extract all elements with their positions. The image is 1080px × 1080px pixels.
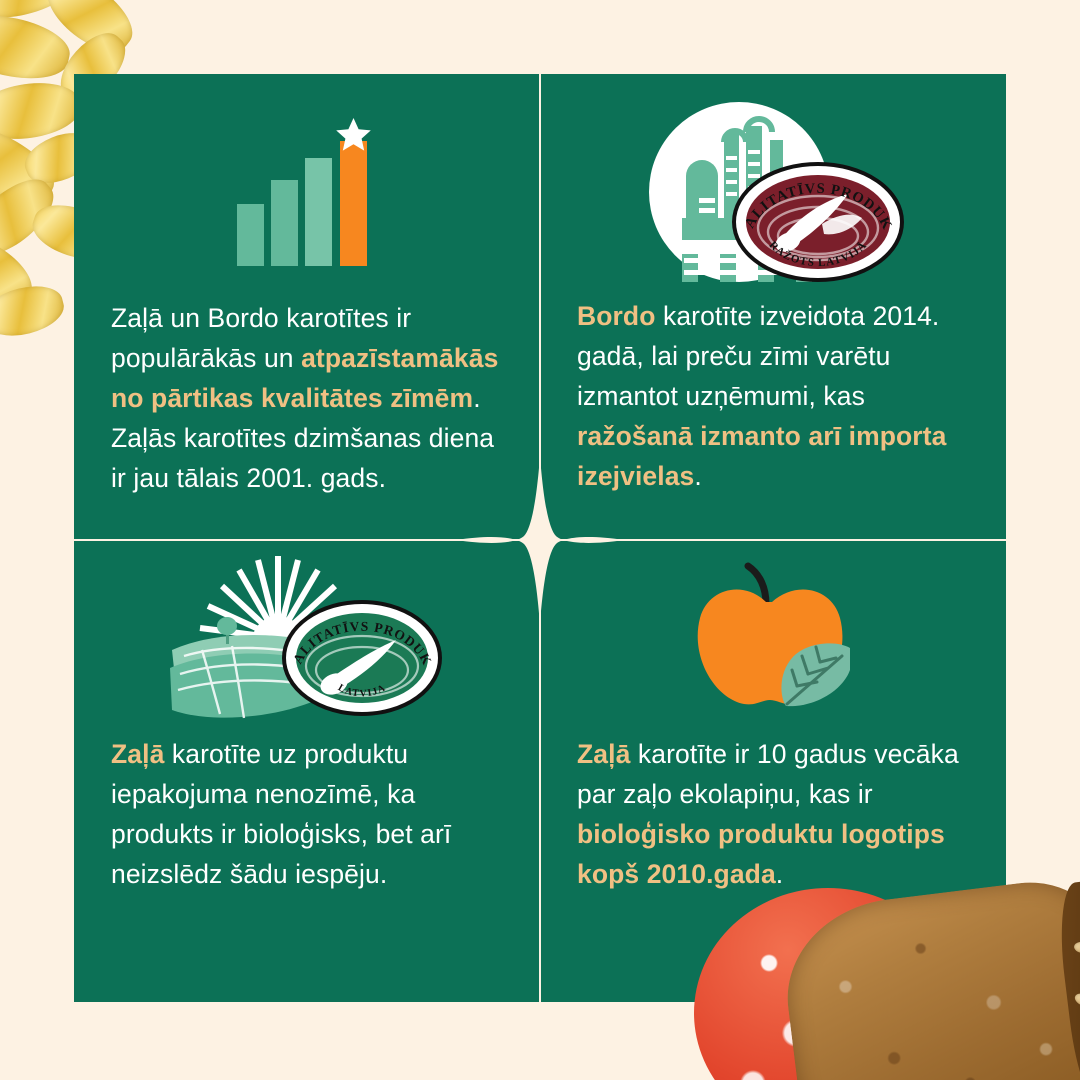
card-text: Zaļā karotīte ir 10 gadus vecāka par zaļ… <box>577 734 977 894</box>
card-text: Zaļā un Bordo karotītes ir populārākās u… <box>111 298 511 498</box>
card-popularity: Zaļā un Bordo karotītes ir populārākās u… <box>74 74 540 538</box>
card-not-organic: KVALITATĪVS PRODUKTS LATVIJA Zaļā karotī… <box>74 538 540 1002</box>
apple-with-leaf-icon <box>686 552 866 722</box>
card-text: Bordo karotīte izveidota 2014. gadā, lai… <box>577 296 977 496</box>
factory-with-bordo-seal-icon: KVALITATĪVS PRODUKTS RAŽOTS LATVIJĀ <box>646 100 906 285</box>
card-age-vs-ecoleaf: Zaļā karotīte ir 10 gadus vecāka par zaļ… <box>540 538 1006 1002</box>
content-panel: Zaļā un Bordo karotītes ir populārākās u… <box>74 74 1006 1002</box>
bread-crust <box>1053 878 1080 1080</box>
card-text: Zaļā karotīte uz produktu iepakojuma nen… <box>111 734 511 894</box>
bar-chart-with-star-icon <box>234 118 384 268</box>
infographic-canvas: Zaļā un Bordo karotītes ir populārākās u… <box>0 0 1080 1080</box>
card-bordo-origin: KVALITATĪVS PRODUKTS RAŽOTS LATVIJĀ Bord… <box>540 74 1006 538</box>
farm-sunrise-with-green-seal-icon: KVALITATĪVS PRODUKTS LATVIJA <box>162 550 444 720</box>
